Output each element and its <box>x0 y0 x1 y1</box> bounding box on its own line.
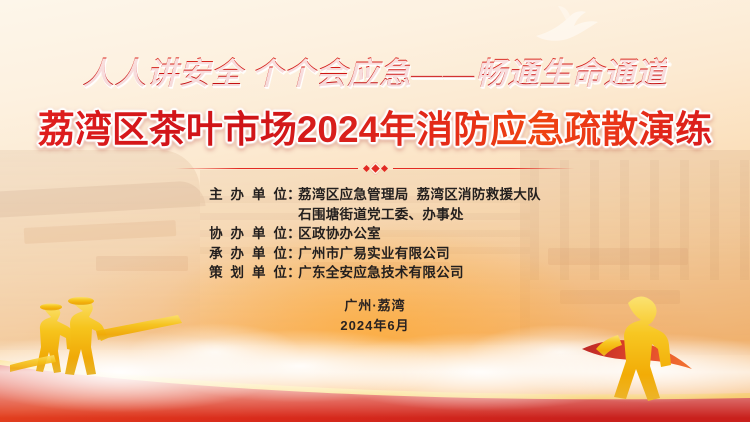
organizer-colon: ： <box>287 244 298 264</box>
organizer-row: 策划单位 ： 广东全安应急技术有限公司 <box>209 263 541 283</box>
diamond-ornament-icon <box>364 164 387 173</box>
organizer-label: 策划单位 <box>209 263 287 283</box>
organizer-value: 荔湾区应急管理局 荔湾区消防救援大队 <box>298 185 541 205</box>
organizer-label: 承办单位 <box>209 244 287 264</box>
organizer-colon: ： <box>287 185 298 205</box>
poster-main-title: 荔湾区茶叶市场2024年消防应急疏散演练 <box>38 99 712 153</box>
organizer-list: 主办单位 ： 荔湾区应急管理局 荔湾区消防救援大队 主办单位 ： 石围塘街道党工… <box>209 185 541 283</box>
organizer-value: 广州市广易实业有限公司 <box>298 244 450 264</box>
organizer-value: 广东全安应急技术有限公司 <box>298 263 464 283</box>
decorative-divider <box>175 164 575 173</box>
poster-slogan: 人人讲安全 个个会应急——畅通生命通道 <box>83 48 668 93</box>
event-place-date: 广州·荔湾 2024年6月 <box>0 296 750 336</box>
organizer-colon: ： <box>287 224 298 244</box>
organizer-value: 石围塘街道党工委、办事处 <box>298 205 464 225</box>
organizer-colon: ： <box>287 263 298 283</box>
event-date: 2024年6月 <box>0 316 750 336</box>
organizer-value: 区政协办公室 <box>298 224 381 244</box>
event-location: 广州·荔湾 <box>0 296 750 316</box>
organizer-label: 协办单位 <box>209 224 287 244</box>
organizer-row: 主办单位 ： 石围塘街道党工委、办事处 <box>209 205 541 225</box>
organizer-row: 承办单位 ： 广州市广易实业有限公司 <box>209 244 541 264</box>
poster-canvas: 人人讲安全 个个会应急——畅通生命通道 荔湾区茶叶市场2024年消防应急疏散演练… <box>0 0 750 422</box>
organizer-row: 主办单位 ： 荔湾区应急管理局 荔湾区消防救援大队 <box>209 185 541 205</box>
organizer-label: 主办单位 <box>209 185 287 205</box>
organizer-row: 协办单位 ： 区政协办公室 <box>209 224 541 244</box>
